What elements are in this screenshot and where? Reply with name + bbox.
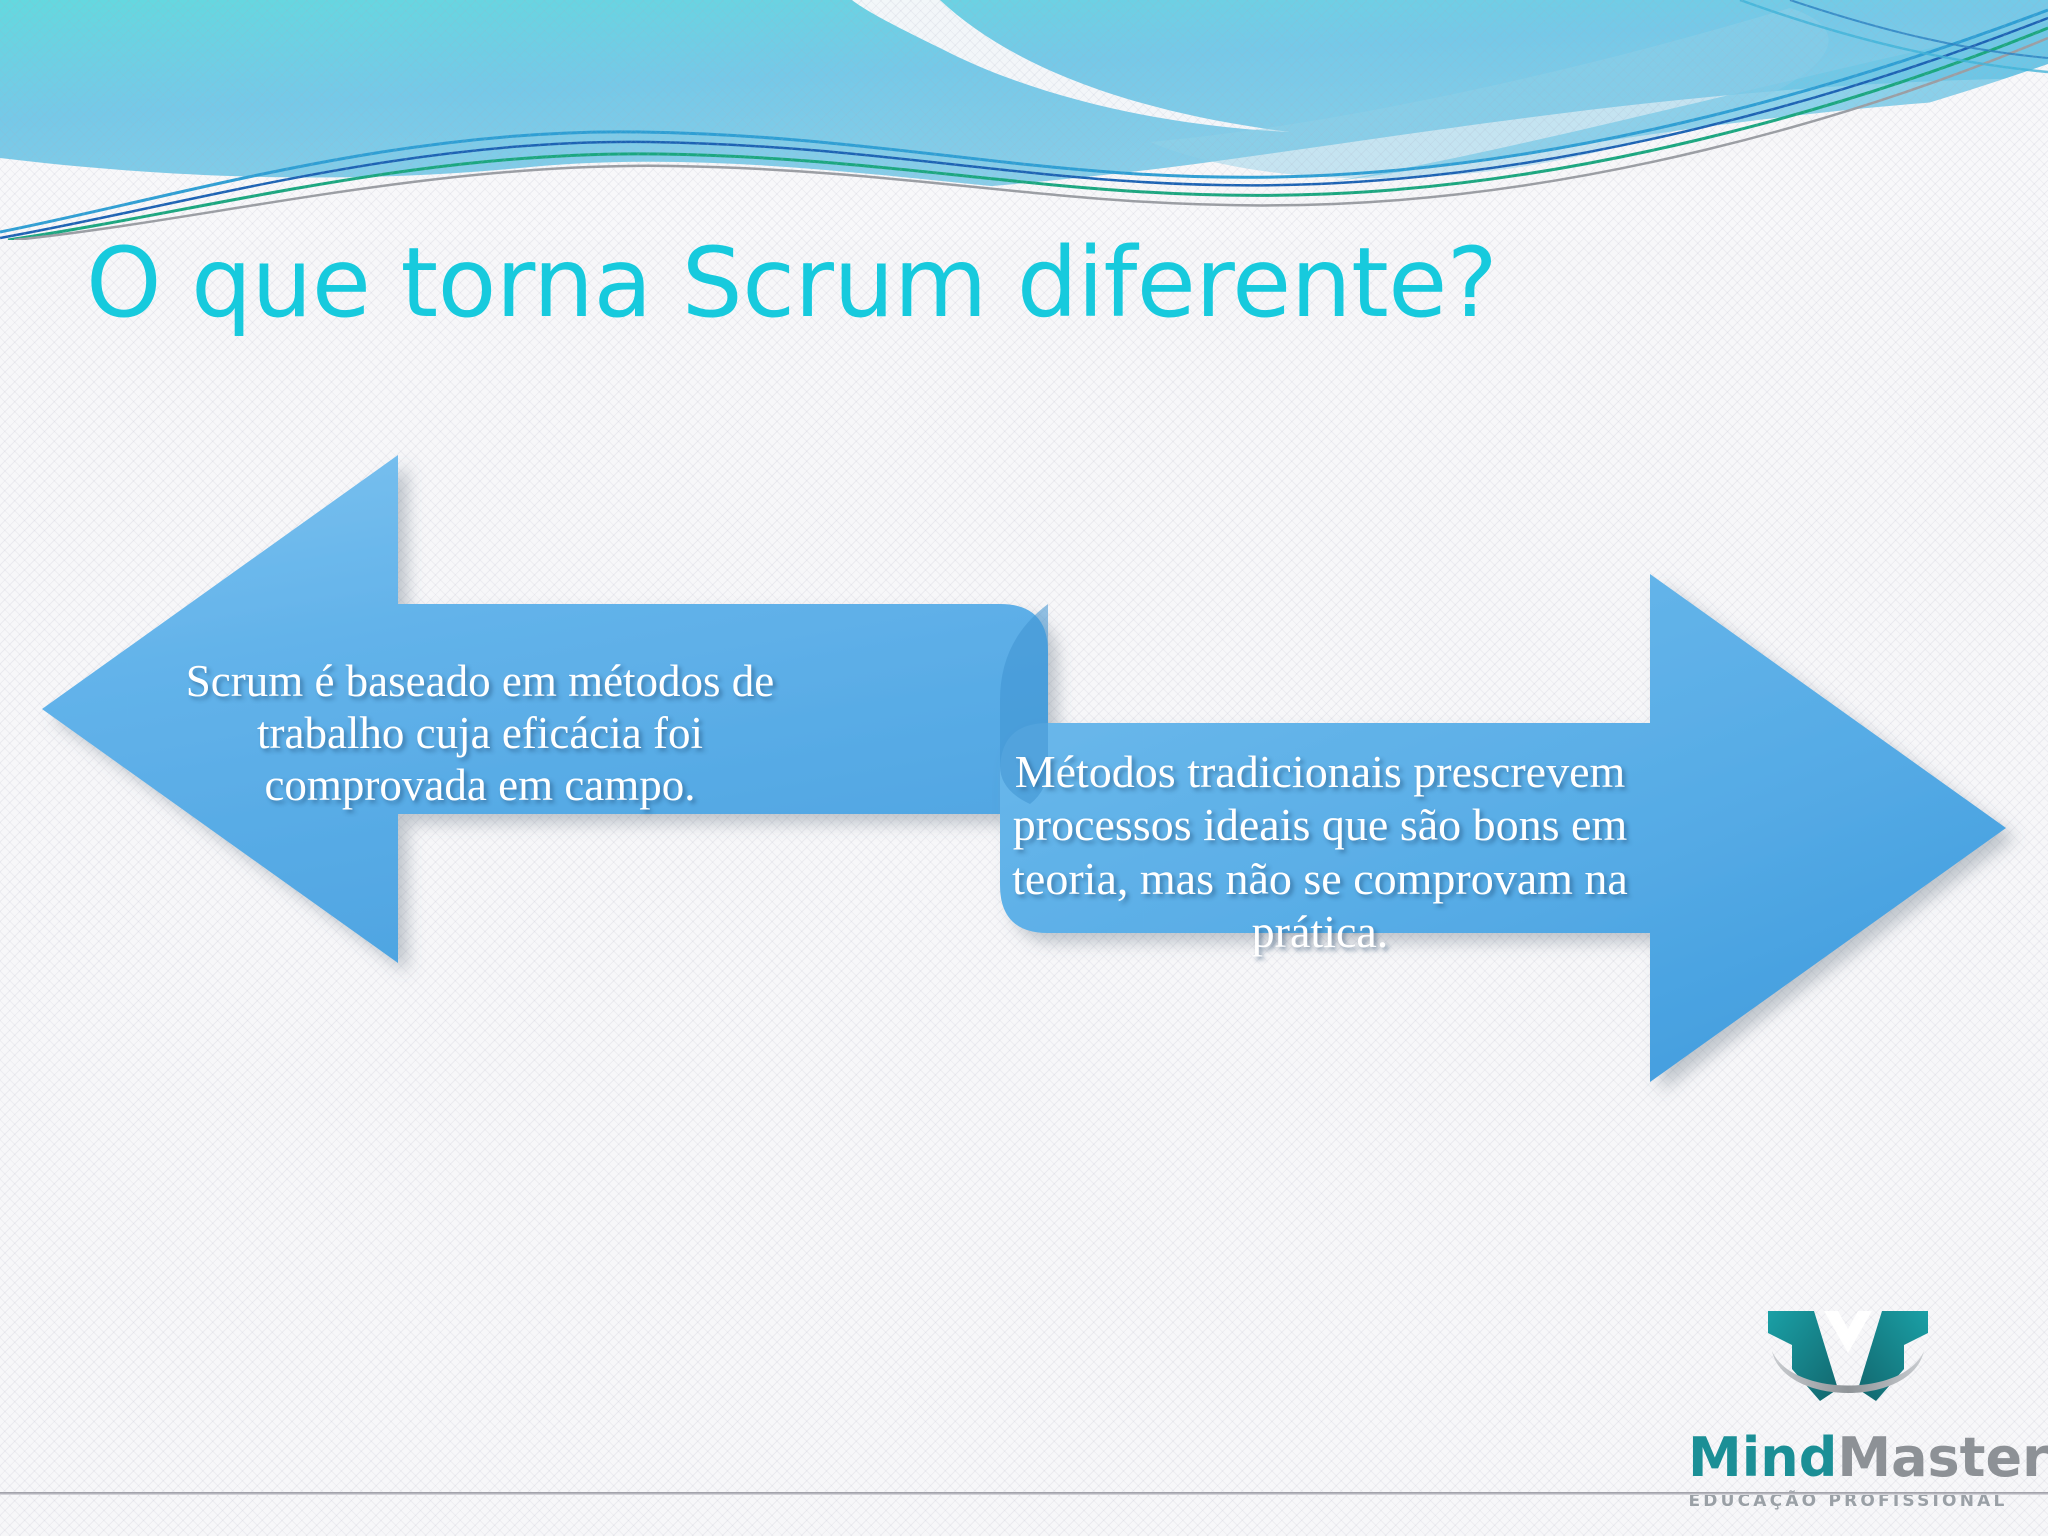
logo-word-mind: Mind: [1688, 1426, 1837, 1489]
slide: O que torna Scrum diferente?: [0, 0, 2048, 1536]
footer-divider: [0, 1492, 2048, 1495]
mindmaster-mark-icon: [1762, 1305, 1934, 1429]
logo-word-master: Master: [1837, 1426, 2048, 1489]
mindmaster-logo: MindMaster EDUCAÇÃO PROFISSIONAL: [1688, 1305, 2008, 1511]
right-arrow-label: Métodos tradicionais prescrevem processo…: [1000, 745, 1640, 958]
mindmaster-wordmark: MindMaster: [1688, 1431, 2008, 1485]
page-title: O que torna Scrum diferente?: [86, 232, 1886, 336]
left-arrow-label: Scrum é baseado em métodos de trabalho c…: [180, 655, 780, 812]
